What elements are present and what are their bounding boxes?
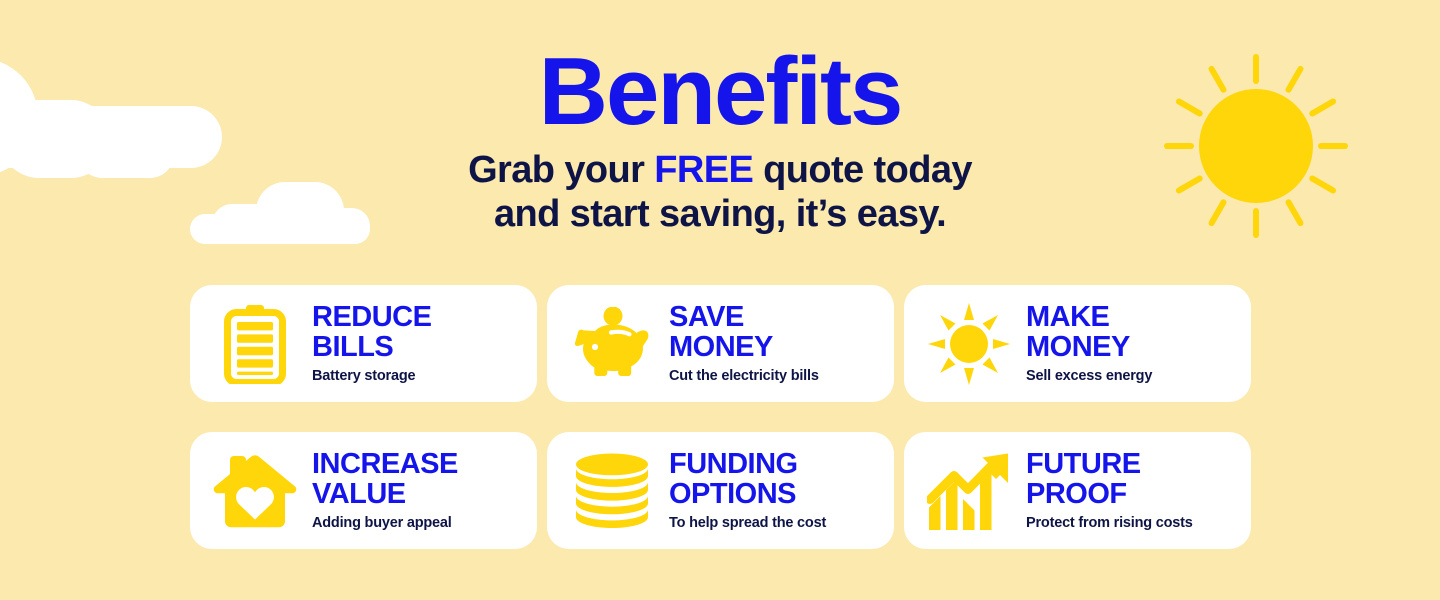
benefit-card-text: FUTURE PROOFProtect from rising costs: [1026, 449, 1193, 533]
benefit-card-text: INCREASE VALUEAdding buyer appeal: [312, 449, 458, 533]
benefit-card-subtitle: Sell excess energy: [1026, 368, 1152, 385]
benefit-card-title: REDUCE BILLS: [312, 302, 431, 363]
benefit-card-text: SAVE MONEYCut the electricity bills: [669, 302, 819, 386]
growth-chart-icon-wrapper: [926, 452, 1012, 530]
benefit-card-make-money[interactable]: MAKE MONEYSell excess energy: [904, 285, 1251, 402]
benefit-card-title: MAKE MONEY: [1026, 302, 1152, 363]
battery-icon: [224, 304, 286, 384]
sun-icon-wrapper: [926, 303, 1012, 385]
subtitle-line-2: and start saving, it’s easy.: [0, 192, 1440, 236]
house-heart-icon: [212, 452, 298, 530]
benefit-card-subtitle: Cut the electricity bills: [669, 368, 819, 385]
benefit-card-subtitle: Adding buyer appeal: [312, 515, 458, 532]
growth-chart-icon: [927, 452, 1011, 530]
benefit-card-title: FUNDING OPTIONS: [669, 449, 826, 510]
benefits-card-grid: REDUCE BILLSBattery storage SAVE MONEYCu…: [190, 285, 1250, 549]
header: Benefits Grab your FREE quote today and …: [0, 46, 1440, 236]
page-subtitle: Grab your FREE quote today and start sav…: [0, 148, 1440, 236]
benefit-card-save-money[interactable]: SAVE MONEYCut the electricity bills: [547, 285, 894, 402]
benefit-card-text: REDUCE BILLSBattery storage: [312, 302, 431, 386]
coin-stack-icon-wrapper: [569, 451, 655, 531]
subtitle-text-after: quote today: [753, 149, 972, 191]
subtitle-line-1: Grab your FREE quote today: [0, 148, 1440, 192]
benefit-card-subtitle: Protect from rising costs: [1026, 515, 1193, 532]
benefit-card-subtitle: Battery storage: [312, 368, 431, 385]
house-heart-icon-wrapper: [212, 452, 298, 530]
piggy-bank-icon: [571, 307, 653, 381]
page-title: Benefits: [0, 46, 1440, 138]
coin-stack-icon: [576, 451, 648, 531]
benefit-card-subtitle: To help spread the cost: [669, 515, 826, 532]
benefit-card-title: SAVE MONEY: [669, 302, 819, 363]
benefit-card-reduce-bills[interactable]: REDUCE BILLSBattery storage: [190, 285, 537, 402]
benefit-card-future-proof[interactable]: FUTURE PROOFProtect from rising costs: [904, 432, 1251, 549]
subtitle-text-before: Grab your: [468, 149, 654, 191]
subtitle-highlight-free: FREE: [654, 149, 753, 191]
sun-icon: [928, 303, 1010, 385]
benefit-card-title: FUTURE PROOF: [1026, 449, 1193, 510]
benefit-card-increase-value[interactable]: INCREASE VALUEAdding buyer appeal: [190, 432, 537, 549]
benefit-card-text: FUNDING OPTIONSTo help spread the cost: [669, 449, 826, 533]
benefit-card-funding-options[interactable]: FUNDING OPTIONSTo help spread the cost: [547, 432, 894, 549]
battery-icon-wrapper: [212, 304, 298, 384]
piggy-bank-icon-wrapper: [569, 307, 655, 381]
benefit-card-title: INCREASE VALUE: [312, 449, 458, 510]
benefit-card-text: MAKE MONEYSell excess energy: [1026, 302, 1152, 386]
